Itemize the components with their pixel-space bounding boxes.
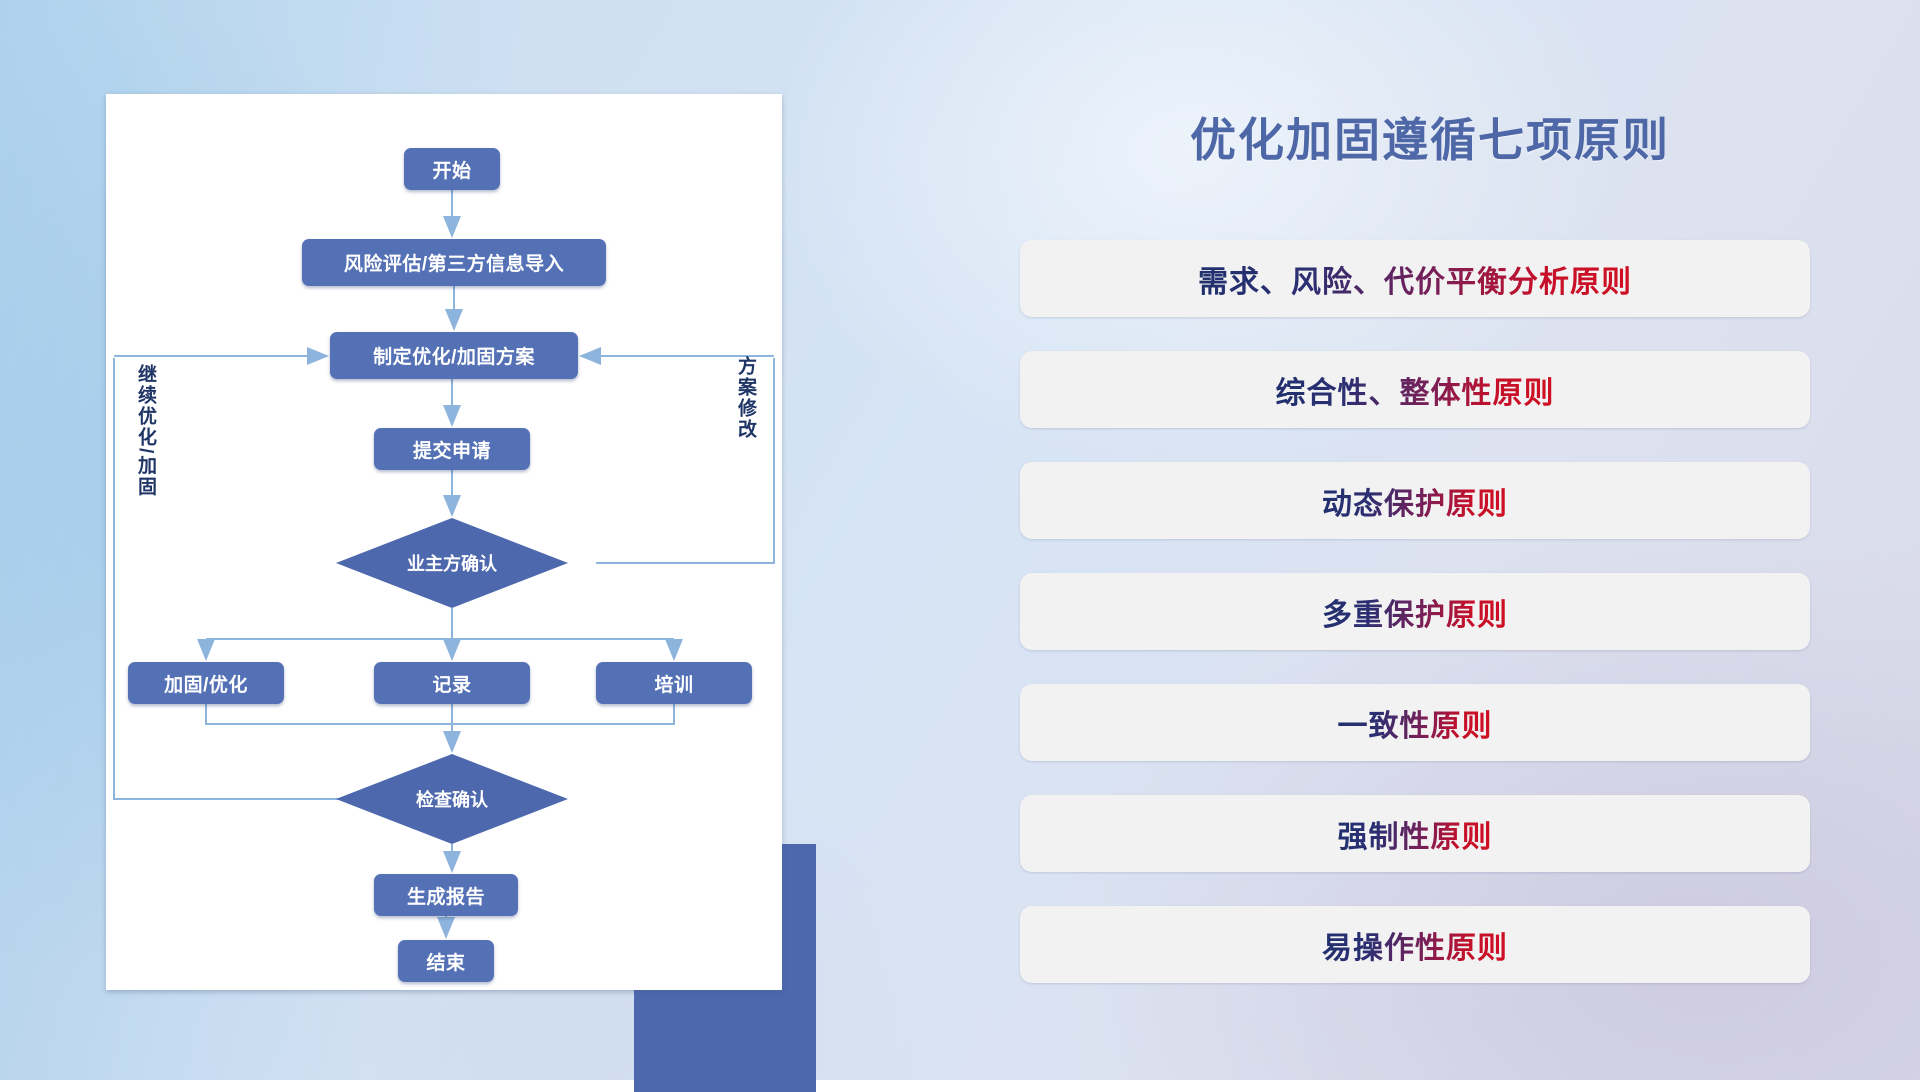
flow-node-label: 风险评估/第三方信息导入 bbox=[344, 249, 564, 276]
flowchart-container: 开始 风险评估/第三方信息导入 制定优化/加固方案 提交申请 业主方确认 加固/… bbox=[106, 94, 796, 992]
principle-label: 易操作性原则 bbox=[1322, 923, 1508, 967]
principles-panel: 优化加固遵循七项原则 需求、风险、代价平衡分析原则 综合性、整体性原则 动态保护… bbox=[1020, 80, 1840, 1040]
flow-node-label: 检查确认 bbox=[416, 786, 488, 812]
principle-label: 多重保护原则 bbox=[1322, 590, 1508, 634]
principle-item-5[interactable]: 一致性原则 bbox=[1020, 684, 1810, 761]
flow-node-label: 培训 bbox=[654, 670, 693, 697]
flow-node-end[interactable]: 结束 bbox=[398, 940, 494, 982]
flow-edge-label-scheme-revision: 方案修改 bbox=[732, 356, 759, 440]
flow-node-submit-application[interactable]: 提交申请 bbox=[374, 428, 530, 470]
flow-node-label: 制定优化/加固方案 bbox=[373, 342, 535, 369]
flow-node-training[interactable]: 培训 bbox=[596, 662, 752, 704]
flow-node-label: 业主方确认 bbox=[407, 550, 497, 576]
page-title: 优化加固遵循七项原则 bbox=[1020, 104, 1840, 170]
flow-node-label: 开始 bbox=[432, 156, 471, 183]
principle-label: 动态保护原则 bbox=[1322, 479, 1508, 523]
principle-label: 综合性、整体性原则 bbox=[1276, 368, 1555, 412]
flow-node-label: 结束 bbox=[426, 948, 465, 975]
flow-node-make-plan[interactable]: 制定优化/加固方案 bbox=[330, 332, 578, 379]
flow-node-label: 提交申请 bbox=[413, 436, 491, 463]
principle-item-3[interactable]: 动态保护原则 bbox=[1020, 462, 1810, 539]
principle-item-2[interactable]: 综合性、整体性原则 bbox=[1020, 351, 1810, 428]
principle-item-1[interactable]: 需求、风险、代价平衡分析原则 bbox=[1020, 240, 1810, 317]
flow-node-generate-report[interactable]: 生成报告 bbox=[374, 874, 518, 916]
flowchart-card: 开始 风险评估/第三方信息导入 制定优化/加固方案 提交申请 业主方确认 加固/… bbox=[106, 94, 782, 990]
flow-node-reinforce-optimize[interactable]: 加固/优化 bbox=[128, 662, 284, 704]
flow-edge-label-continue-optimize: 继续优化/加固 bbox=[132, 364, 159, 497]
principle-label: 强制性原则 bbox=[1338, 812, 1493, 856]
principle-item-6[interactable]: 强制性原则 bbox=[1020, 795, 1810, 872]
flow-node-start[interactable]: 开始 bbox=[404, 148, 500, 190]
principle-item-4[interactable]: 多重保护原则 bbox=[1020, 573, 1810, 650]
flow-node-record[interactable]: 记录 bbox=[374, 662, 530, 704]
flow-node-label: 加固/优化 bbox=[164, 670, 248, 697]
flow-node-label: 记录 bbox=[432, 670, 471, 697]
flow-node-label: 生成报告 bbox=[407, 882, 485, 909]
principle-item-7[interactable]: 易操作性原则 bbox=[1020, 906, 1810, 983]
principle-label: 需求、风险、代价平衡分析原则 bbox=[1198, 257, 1632, 301]
flow-node-risk-assessment[interactable]: 风险评估/第三方信息导入 bbox=[302, 239, 606, 286]
principle-label: 一致性原则 bbox=[1338, 701, 1493, 745]
